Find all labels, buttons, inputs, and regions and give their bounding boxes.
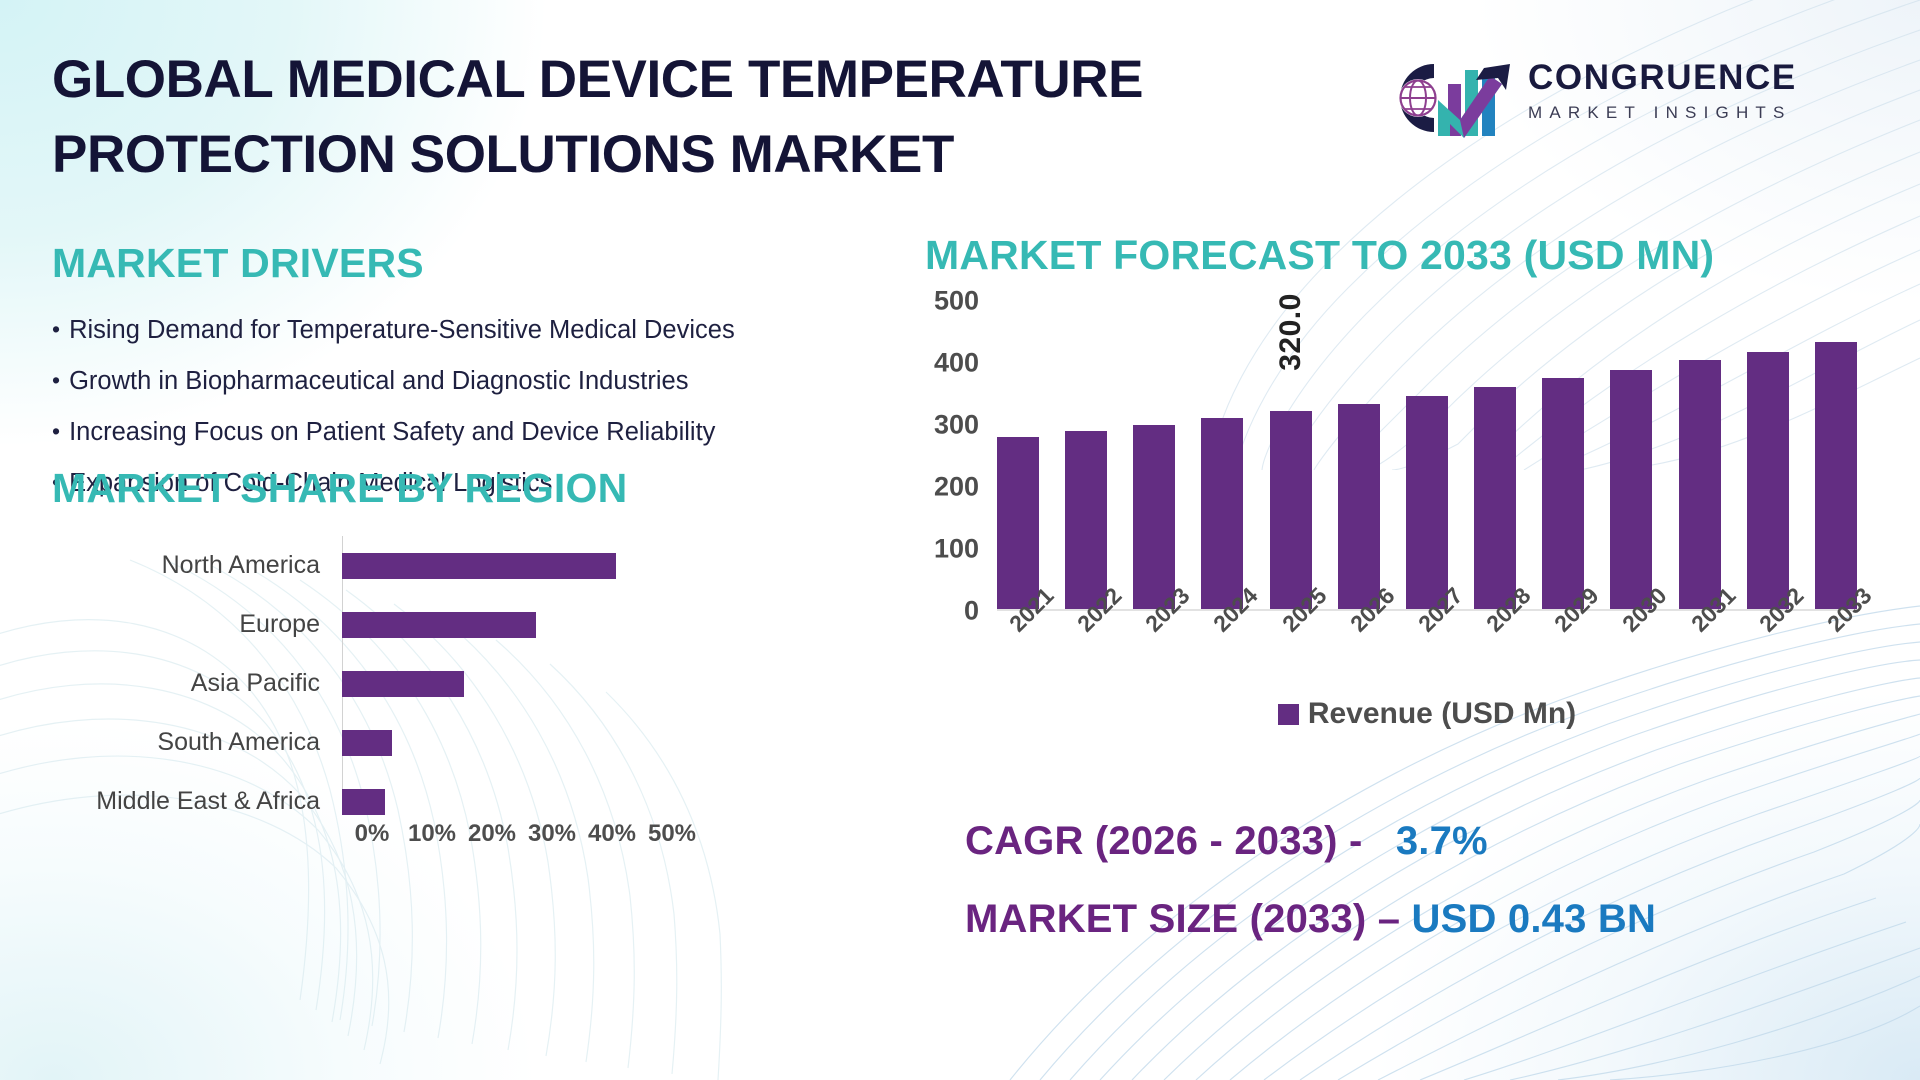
forecast-bar — [1542, 378, 1584, 609]
forecast-bar-column — [1065, 301, 1107, 609]
region-axis-tick: 40% — [582, 820, 642, 848]
forecast-bar — [1406, 396, 1448, 609]
region-bar-track — [342, 601, 722, 648]
region-bar-track — [342, 542, 722, 589]
driver-text: Increasing Focus on Patient Safety and D… — [69, 419, 715, 445]
bullet-icon: • — [52, 419, 60, 443]
forecast-bar-chart: 5004003002001000 320.0 20212022202320242… — [925, 301, 1865, 691]
legend-label: Revenue (USD Mn) — [1308, 699, 1576, 729]
region-label: North America — [52, 553, 342, 578]
region-bar — [342, 612, 536, 638]
forecast-bar-column — [1542, 301, 1584, 609]
forecast-bar — [1610, 370, 1652, 609]
forecast-bar — [1747, 352, 1789, 609]
region-row: Asia Pacific — [52, 660, 752, 707]
y-axis-tick: 200 — [934, 474, 979, 501]
region-axis-tick: 50% — [642, 820, 702, 848]
y-axis-tick: 500 — [934, 288, 979, 315]
market-size-stat: MARKET SIZE (2033) – USD 0.43 BN — [965, 898, 1885, 940]
forecast-bar — [1270, 411, 1312, 609]
forecast-bar — [997, 437, 1039, 609]
forecast-bar-column — [1815, 301, 1857, 609]
forecast-bar-column — [1747, 301, 1789, 609]
forecast-bar — [1815, 342, 1857, 609]
summary-stats: CAGR (2026 - 2033) - 3.7% MARKET SIZE (2… — [965, 820, 1885, 941]
forecast-x-axis: 2021202220232024202520262027202820292030… — [997, 617, 1857, 687]
market-size-label: MARKET SIZE (2033) – — [965, 897, 1400, 941]
market-drivers-heading: MARKET DRIVERS — [52, 240, 952, 287]
region-row: South America — [52, 719, 752, 766]
forecast-bar-column — [1610, 301, 1652, 609]
forecast-bar-column — [1133, 301, 1175, 609]
globe-c-bar-chart-arrow-logo-icon — [1372, 54, 1520, 142]
forecast-bar — [1201, 418, 1243, 609]
region-bar — [342, 671, 464, 697]
region-label: Middle East & Africa — [52, 789, 342, 814]
region-bar-track — [342, 719, 722, 766]
region-axis-tick: 10% — [402, 820, 462, 848]
driver-text: Growth in Biopharmaceutical and Diagnost… — [69, 368, 688, 394]
driver-text: Rising Demand for Temperature-Sensitive … — [69, 317, 735, 343]
y-axis-tick: 0 — [964, 598, 979, 625]
region-rows: North AmericaEuropeAsia PacificSouth Ame… — [52, 542, 752, 825]
logo-name: CONGRUENCE — [1528, 60, 1797, 95]
forecast-bar — [1133, 425, 1175, 609]
y-axis-tick: 300 — [934, 412, 979, 439]
region-bar-track — [342, 660, 722, 707]
forecast-bar — [1338, 404, 1380, 609]
y-axis-tick: 400 — [934, 350, 979, 377]
y-axis-tick: 100 — [934, 536, 979, 563]
market-forecast-heading: MARKET FORECAST TO 2033 (USD MN) — [925, 232, 1885, 279]
region-bar-track — [342, 778, 722, 825]
forecast-bar-column — [1406, 301, 1448, 609]
page-title: GLOBAL MEDICAL DEVICE TEMPERATURE PROTEC… — [52, 42, 1382, 193]
market-forecast-section: MARKET FORECAST TO 2033 (USD MN) 5004003… — [925, 232, 1885, 691]
forecast-bar — [1474, 387, 1516, 609]
bullet-icon: • — [52, 368, 60, 392]
region-axis-tick: 0% — [342, 820, 402, 848]
forecast-bar-column — [1679, 301, 1721, 609]
region-row: Europe — [52, 601, 752, 648]
forecast-y-axis: 5004003002001000 — [925, 301, 987, 611]
region-row: Middle East & Africa — [52, 778, 752, 825]
market-share-heading: MARKET SHARE BY REGION — [52, 465, 912, 512]
region-label: Europe — [52, 612, 342, 637]
bullet-icon: • — [52, 317, 60, 341]
forecast-bar — [1065, 431, 1107, 609]
forecast-bar — [1679, 360, 1721, 609]
forecast-legend: Revenue (USD Mn) — [997, 699, 1857, 729]
list-item: • Growth in Biopharmaceutical and Diagno… — [52, 368, 952, 394]
region-label: South America — [52, 730, 342, 755]
logo-wordmark: CONGRUENCE MARKET INSIGHTS — [1528, 60, 1797, 121]
list-item: • Rising Demand for Temperature-Sensitiv… — [52, 317, 952, 343]
forecast-bar-value-label: 320.0 — [1274, 293, 1308, 371]
header: GLOBAL MEDICAL DEVICE TEMPERATURE PROTEC… — [0, 0, 1920, 195]
region-bar — [342, 553, 616, 579]
forecast-bar-column — [1201, 301, 1243, 609]
region-axis-tick: 30% — [522, 820, 582, 848]
logo-tagline: MARKET INSIGHTS — [1528, 104, 1797, 121]
region-bar — [342, 789, 385, 815]
region-row: North America — [52, 542, 752, 589]
region-label: Asia Pacific — [52, 671, 342, 696]
market-size-value: USD 0.43 BN — [1412, 897, 1657, 941]
cagr-value: 3.7% — [1396, 819, 1488, 863]
forecast-bar-column — [997, 301, 1039, 609]
market-share-by-region-section: MARKET SHARE BY REGION North AmericaEuro… — [52, 465, 912, 842]
list-item: • Increasing Focus on Patient Safety and… — [52, 419, 952, 445]
forecast-bar-column — [1338, 301, 1380, 609]
region-bar — [342, 730, 392, 756]
legend-swatch-icon — [1278, 704, 1299, 725]
brand-logo: CONGRUENCE MARKET INSIGHTS — [1372, 52, 1872, 144]
region-bar-chart: North AmericaEuropeAsia PacificSouth Ame… — [52, 542, 752, 842]
forecast-bar-column: 320.0 — [1270, 301, 1312, 609]
forecast-bar-column — [1474, 301, 1516, 609]
region-axis-ticks: 0%10%20%30%40%50% — [342, 820, 702, 848]
forecast-plot-area: 320.0 — [997, 301, 1857, 611]
cagr-label: CAGR (2026 - 2033) - — [965, 819, 1362, 863]
cagr-stat: CAGR (2026 - 2033) - 3.7% — [965, 820, 1885, 862]
region-axis-tick: 20% — [462, 820, 522, 848]
